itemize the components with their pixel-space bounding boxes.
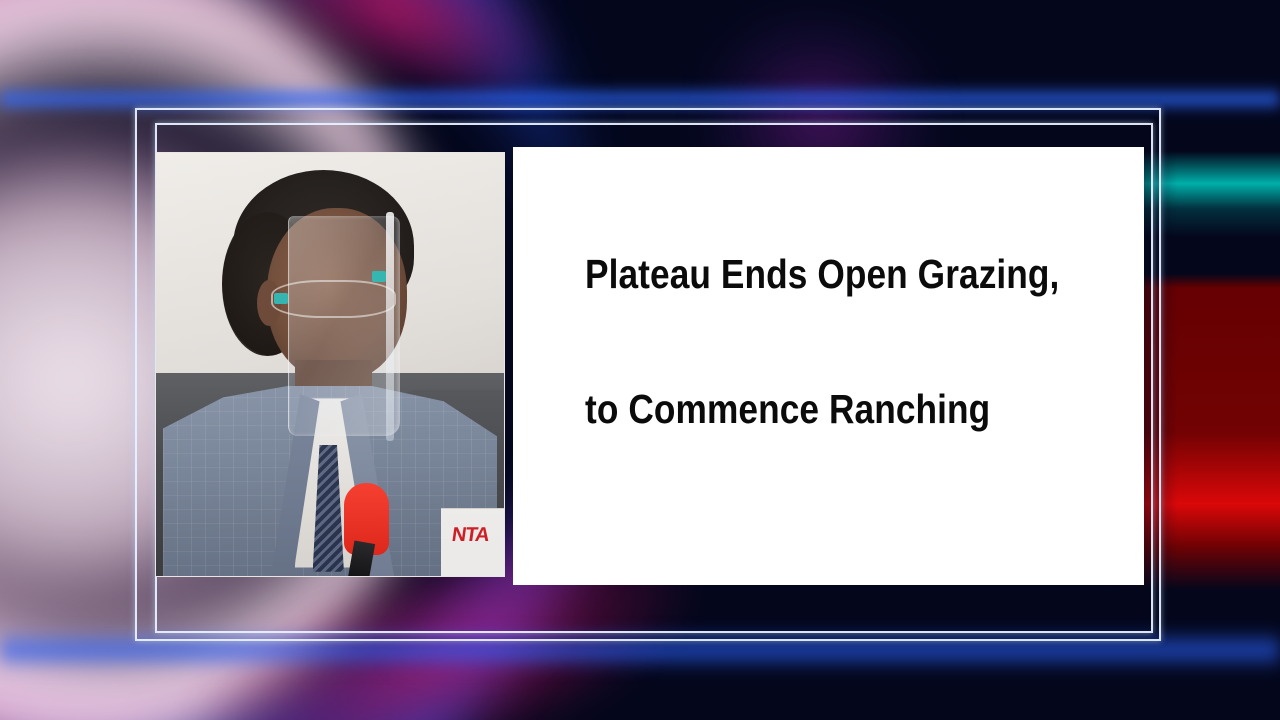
news-photo: NTA bbox=[155, 152, 505, 577]
headline-line-1: Plateau Ends Open Grazing, bbox=[585, 207, 1032, 342]
headline-text: Plateau Ends Open Grazing, to Commence R… bbox=[585, 207, 1032, 477]
photo-overlay-sheen bbox=[156, 153, 504, 576]
headline-panel: Plateau Ends Open Grazing, to Commence R… bbox=[513, 147, 1144, 585]
headline-line-2: to Commence Ranching bbox=[585, 342, 1032, 477]
news-graphic-stage: NTA Plateau Ends Open Grazing, to Commen… bbox=[0, 0, 1280, 720]
